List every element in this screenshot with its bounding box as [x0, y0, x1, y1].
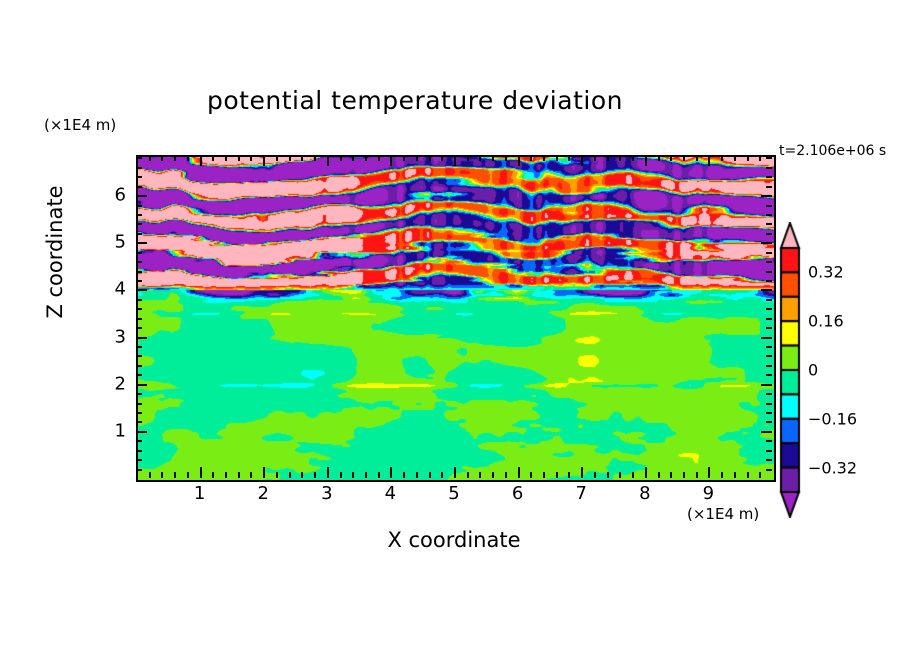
axis-tick [454, 467, 456, 478]
axis-tick [136, 403, 142, 405]
axis-tick [594, 155, 596, 161]
axis-tick [187, 472, 189, 478]
axis-tick [136, 157, 142, 159]
axis-tick [766, 421, 772, 423]
axis-tick [766, 186, 772, 188]
axis-tick [200, 467, 202, 478]
axis-tick [734, 155, 736, 161]
axis-tick [136, 450, 142, 452]
timestamp-annotation: t=2.106e+06 s [779, 143, 886, 159]
x-tick-label: 2 [257, 483, 268, 504]
colorbar-tick-label: −0.16 [808, 409, 857, 428]
axis-tick [136, 299, 142, 301]
axis-tick [289, 155, 291, 161]
axis-tick [619, 472, 621, 478]
axis-tick [518, 155, 520, 166]
axis-tick [708, 467, 710, 478]
axis-tick [136, 186, 142, 188]
axis-tick [766, 176, 772, 178]
y-tick-label: 4 [96, 279, 126, 300]
axis-tick [766, 157, 772, 159]
axis-tick [416, 155, 418, 161]
axis-tick [136, 440, 142, 442]
axis-tick [136, 327, 142, 329]
axis-tick [766, 469, 772, 471]
axis-tick [607, 155, 609, 161]
axis-tick [645, 155, 647, 166]
axis-tick [479, 472, 481, 478]
axis-tick [766, 223, 772, 225]
axis-tick [174, 155, 176, 161]
axis-tick [766, 365, 772, 367]
axis-tick [581, 467, 583, 478]
axis-tick [263, 155, 265, 166]
axis-tick [696, 472, 698, 478]
axis-tick [766, 318, 772, 320]
axis-tick [136, 205, 142, 207]
axis-tick [530, 155, 532, 161]
contour-plot-area [136, 155, 776, 482]
axis-tick [761, 431, 772, 433]
colorbar-tick-label: 0 [808, 361, 818, 380]
axis-tick [492, 155, 494, 161]
y-tick-label: 3 [96, 326, 126, 347]
axis-tick [556, 472, 558, 478]
axis-tick [766, 308, 772, 310]
axis-tick [352, 472, 354, 478]
axis-tick [136, 261, 142, 263]
axis-tick [766, 459, 772, 461]
x-tick-label: 9 [703, 483, 714, 504]
axis-tick [314, 155, 316, 161]
axis-tick [390, 467, 392, 478]
axis-tick [136, 337, 147, 339]
axis-tick [378, 472, 380, 478]
axis-tick [505, 472, 507, 478]
axis-tick [365, 472, 367, 478]
axis-tick [136, 412, 142, 414]
axis-tick [314, 472, 316, 478]
axis-tick [136, 365, 142, 367]
axis-tick [390, 155, 392, 166]
axis-tick [149, 155, 151, 161]
axis-tick [543, 472, 545, 478]
axis-tick [365, 155, 367, 161]
axis-tick [759, 472, 761, 478]
axis-tick [136, 252, 142, 254]
x-tick-label: 3 [321, 483, 332, 504]
axis-tick [352, 155, 354, 161]
axis-tick [136, 195, 147, 197]
axis-tick [696, 155, 698, 161]
scalar-field-canvas [138, 157, 774, 480]
colorbar-tick-label: 0.16 [808, 312, 844, 331]
axis-tick [766, 205, 772, 207]
y-axis-title: Z coordinate [43, 172, 67, 332]
axis-tick [136, 374, 142, 376]
x-tick-label: 6 [512, 483, 523, 504]
axis-tick [766, 327, 772, 329]
axis-tick [136, 431, 147, 433]
axis-tick [136, 421, 142, 423]
axis-tick [263, 467, 265, 478]
axis-tick [766, 450, 772, 452]
axis-tick [136, 318, 142, 320]
axis-tick [645, 467, 647, 478]
x-axis-units-label: (×1E4 m) [687, 505, 759, 523]
y-tick-label: 6 [96, 185, 126, 206]
x-tick-label: 4 [385, 483, 396, 504]
axis-tick [766, 393, 772, 395]
x-axis-title: X coordinate [136, 528, 772, 552]
axis-tick [543, 155, 545, 161]
axis-tick [670, 472, 672, 478]
axis-tick [632, 155, 634, 161]
axis-tick [136, 308, 142, 310]
axis-tick [441, 155, 443, 161]
axis-tick [136, 271, 142, 273]
axis-tick [238, 155, 240, 161]
axis-tick [594, 472, 596, 478]
axis-tick [416, 472, 418, 478]
axis-tick [766, 167, 772, 169]
axis-tick [136, 355, 142, 357]
axis-tick [734, 472, 736, 478]
axis-tick [766, 214, 772, 216]
axis-tick [761, 195, 772, 197]
axis-tick [403, 155, 405, 161]
x-tick-label: 1 [194, 483, 205, 504]
axis-tick [505, 155, 507, 161]
axis-tick [761, 384, 772, 386]
axis-tick [340, 155, 342, 161]
axis-tick [658, 472, 660, 478]
axis-tick [492, 472, 494, 478]
axis-tick [766, 346, 772, 348]
axis-tick [581, 155, 583, 166]
axis-tick [136, 289, 147, 291]
axis-tick [556, 155, 558, 161]
axis-tick [340, 472, 342, 478]
colorbar-canvas [779, 222, 801, 518]
axis-tick [479, 155, 481, 161]
axis-tick [761, 289, 772, 291]
axis-tick [766, 280, 772, 282]
axis-tick [759, 155, 761, 161]
axis-tick [225, 472, 227, 478]
axis-tick [327, 155, 329, 166]
axis-tick [708, 155, 710, 166]
y-tick-label: 1 [96, 420, 126, 441]
axis-tick [467, 155, 469, 161]
axis-tick [518, 467, 520, 478]
axis-tick [276, 472, 278, 478]
axis-tick [136, 280, 142, 282]
page-title: potential temperature deviation [0, 86, 830, 115]
axis-tick [149, 472, 151, 478]
axis-tick [670, 155, 672, 161]
axis-tick [766, 355, 772, 357]
axis-tick [766, 233, 772, 235]
axis-tick [766, 374, 772, 376]
colorbar-tick-label: −0.32 [808, 458, 857, 477]
axis-tick [429, 472, 431, 478]
x-tick-label: 7 [575, 483, 586, 504]
axis-tick [530, 472, 532, 478]
axis-tick [174, 472, 176, 478]
axis-tick [238, 472, 240, 478]
axis-tick [250, 155, 252, 161]
axis-tick [683, 472, 685, 478]
axis-tick [136, 223, 142, 225]
axis-tick [136, 346, 142, 348]
axis-tick [378, 155, 380, 161]
axis-tick [747, 472, 749, 478]
axis-tick [250, 472, 252, 478]
axis-tick [761, 242, 772, 244]
axis-tick [200, 155, 202, 166]
axis-tick [212, 155, 214, 161]
axis-tick [161, 155, 163, 161]
axis-tick [619, 155, 621, 161]
axis-tick [766, 299, 772, 301]
axis-tick [766, 252, 772, 254]
colorbar-tick-label: 0.32 [808, 263, 844, 282]
axis-tick [136, 233, 142, 235]
axis-tick [721, 155, 723, 161]
axis-tick [766, 440, 772, 442]
axis-tick [136, 176, 142, 178]
axis-tick [766, 261, 772, 263]
axis-tick [607, 472, 609, 478]
axis-tick [766, 403, 772, 405]
axis-tick [161, 472, 163, 478]
y-tick-label: 2 [96, 373, 126, 394]
x-tick-label: 8 [639, 483, 650, 504]
colorbar [779, 222, 801, 518]
axis-tick [301, 155, 303, 161]
axis-tick [276, 155, 278, 161]
axis-tick [568, 472, 570, 478]
axis-tick [225, 155, 227, 161]
axis-tick [467, 472, 469, 478]
axis-tick [632, 472, 634, 478]
axis-tick [136, 459, 142, 461]
axis-tick [683, 155, 685, 161]
figure-root: potential temperature deviation (×1E4 m)… [0, 0, 904, 654]
axis-tick [136, 242, 147, 244]
axis-tick [136, 393, 142, 395]
axis-tick [766, 412, 772, 414]
axis-tick [301, 472, 303, 478]
axis-tick [721, 472, 723, 478]
axis-tick [766, 271, 772, 273]
y-tick-label: 5 [96, 232, 126, 253]
axis-tick [136, 384, 147, 386]
axis-tick [747, 155, 749, 161]
axis-tick [454, 155, 456, 166]
axis-tick [403, 472, 405, 478]
axis-tick [327, 467, 329, 478]
axis-tick [136, 167, 142, 169]
axis-tick [187, 155, 189, 161]
x-tick-label: 5 [448, 483, 459, 504]
axis-tick [289, 472, 291, 478]
axis-tick [568, 155, 570, 161]
axis-tick [136, 214, 142, 216]
axis-tick [429, 155, 431, 161]
axis-tick [212, 472, 214, 478]
axis-tick [136, 469, 142, 471]
z-axis-units-label: (×1E4 m) [44, 116, 116, 134]
axis-tick [658, 155, 660, 161]
axis-tick [761, 337, 772, 339]
axis-tick [441, 472, 443, 478]
